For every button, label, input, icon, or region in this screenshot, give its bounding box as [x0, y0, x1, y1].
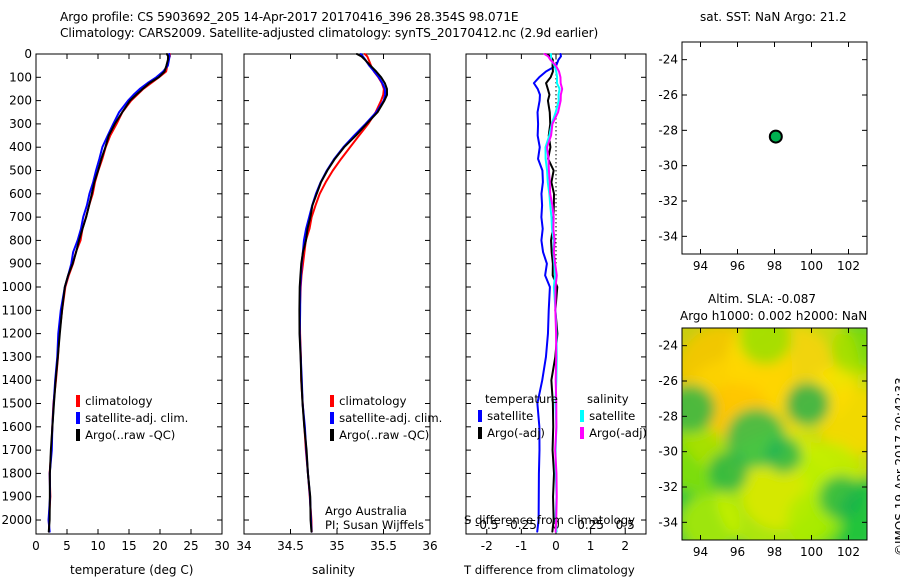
temperature-legend: climatology satellite-adj. clim. Argo(..… [76, 392, 188, 443]
difference-panel: -2-1012-0.5-0.2500.250.5 [452, 42, 660, 580]
svg-text:102: 102 [837, 545, 860, 559]
sst-map-title: sat. SST: NaN Argo: 21.2 [700, 10, 847, 24]
svg-text:96: 96 [730, 259, 745, 273]
svg-text:0: 0 [24, 47, 32, 61]
station-marker [770, 131, 782, 143]
svg-text:-30: -30 [658, 445, 678, 459]
svg-text:96: 96 [730, 545, 745, 559]
svg-text:-2: -2 [481, 539, 493, 553]
copyright-credit: ©IMOS 19-Apr-2017 20:42:33 [893, 377, 900, 556]
difference-legend-salinity: salinity satellite Argo(-adj) [580, 392, 647, 441]
svg-text:35: 35 [329, 539, 344, 553]
legend-label-climatology: climatology [339, 394, 406, 408]
svg-text:400: 400 [9, 140, 32, 154]
legend-swatch-argo [76, 429, 80, 441]
legend-label-argo: Argo(..raw -QC) [85, 428, 175, 442]
svg-text:98: 98 [767, 545, 782, 559]
legend-swatch-satellite-adj [76, 412, 80, 424]
difference-top-xaxis-label: S difference from climatology [464, 513, 635, 527]
svg-text:100: 100 [9, 70, 32, 84]
svg-text:30: 30 [214, 539, 229, 553]
svg-text:2: 2 [621, 539, 629, 553]
svg-text:98: 98 [767, 259, 782, 273]
attribution-line2: PI: Susan Wijffels [325, 518, 424, 532]
plot-title-line2: Climatology: CARS2009. Satellite-adjuste… [60, 26, 598, 40]
legend-swatch-sal-argo-adj [580, 427, 584, 439]
svg-text:-34: -34 [658, 229, 678, 243]
svg-text:35.5: 35.5 [370, 539, 397, 553]
legend-swatch-sal-satellite [580, 410, 584, 422]
legend-label-sal-satellite: satellite [589, 409, 635, 423]
legend-label-satellite-adj: satellite-adj. clim. [339, 411, 442, 425]
legend-swatch-temp-argo-adj [478, 427, 482, 439]
difference-plot: -2-1012-0.5-0.2500.250.5 [452, 42, 660, 580]
svg-text:700: 700 [9, 210, 32, 224]
svg-text:100: 100 [800, 545, 823, 559]
svg-text:1500: 1500 [1, 397, 32, 411]
salinity-xaxis-label: salinity [312, 563, 355, 577]
svg-text:25: 25 [183, 539, 198, 553]
svg-text:20: 20 [152, 539, 167, 553]
svg-text:-24: -24 [658, 53, 678, 67]
sla-map-plot: 949698100102-24-26-28-30-32-34 [650, 324, 900, 580]
sla-map-title-line1: Altim. SLA: -0.087 [708, 292, 816, 306]
svg-text:102: 102 [837, 259, 860, 273]
plot-title-line1: Argo profile: CS 5903692_205 14-Apr-2017… [60, 10, 519, 24]
svg-text:1000: 1000 [1, 280, 32, 294]
svg-text:-32: -32 [658, 480, 678, 494]
svg-text:1900: 1900 [1, 490, 32, 504]
svg-text:-24: -24 [658, 339, 678, 353]
svg-text:800: 800 [9, 233, 32, 247]
svg-text:100: 100 [800, 259, 823, 273]
svg-text:300: 300 [9, 117, 32, 131]
svg-text:-32: -32 [658, 194, 678, 208]
sst-map-plot: 949698100102-24-26-28-30-32-34 [650, 28, 900, 318]
svg-text:1400: 1400 [1, 373, 32, 387]
svg-text:900: 900 [9, 257, 32, 271]
svg-text:1200: 1200 [1, 327, 32, 341]
svg-text:1700: 1700 [1, 443, 32, 457]
svg-text:-1: -1 [515, 539, 527, 553]
svg-text:500: 500 [9, 164, 32, 178]
sst-map-panel: 949698100102-24-26-28-30-32-34 [650, 28, 900, 318]
svg-text:94: 94 [693, 259, 708, 273]
svg-text:94: 94 [693, 545, 708, 559]
salinity-panel: 3434.53535.536 [230, 42, 452, 580]
sla-map-title-line2: Argo h1000: 0.002 h2000: NaN [680, 309, 867, 323]
legend-swatch-temp-satellite [478, 410, 482, 422]
svg-text:0: 0 [552, 539, 560, 553]
svg-text:-26: -26 [658, 374, 678, 388]
legend-swatch-argo [330, 429, 334, 441]
legend-label-temp-argo-adj: Argo(-adj) [487, 426, 545, 440]
svg-text:-28: -28 [658, 409, 678, 423]
svg-text:36: 36 [422, 539, 437, 553]
svg-text:1600: 1600 [1, 420, 32, 434]
svg-text:1: 1 [587, 539, 595, 553]
attribution-line1: Argo Australia [325, 504, 424, 518]
legend-label-climatology: climatology [85, 394, 152, 408]
svg-text:1800: 1800 [1, 466, 32, 480]
temperature-plot: 0510152025300100200300400500600700800900… [0, 42, 230, 580]
sla-map-panel: 949698100102-24-26-28-30-32-34 [650, 324, 900, 580]
svg-text:-30: -30 [658, 159, 678, 173]
svg-text:600: 600 [9, 187, 32, 201]
svg-text:15: 15 [121, 539, 136, 553]
salinity-plot: 3434.53535.536 [230, 42, 452, 580]
legend-label-temp-satellite: satellite [487, 409, 533, 423]
attribution: Argo Australia PI: Susan Wijffels [325, 504, 424, 532]
legend-label-satellite-adj: satellite-adj. clim. [85, 411, 188, 425]
temperature-xaxis-label: temperature (deg C) [70, 563, 193, 577]
difference-legend-temperature: temperature satellite Argo(-adj) [478, 392, 558, 441]
svg-text:34: 34 [236, 539, 251, 553]
legend-heading-temperature: temperature [478, 392, 558, 407]
svg-text:-26: -26 [658, 88, 678, 102]
legend-label-argo: Argo(..raw -QC) [339, 428, 429, 442]
svg-text:200: 200 [9, 94, 32, 108]
svg-text:2000: 2000 [1, 513, 32, 527]
difference-bottom-xaxis-label: T difference from climatology [464, 563, 635, 577]
legend-heading-salinity: salinity [580, 392, 647, 407]
svg-text:-28: -28 [658, 123, 678, 137]
svg-text:-34: -34 [658, 515, 678, 529]
salinity-legend: climatology satellite-adj. clim. Argo(..… [330, 392, 442, 443]
svg-text:0: 0 [32, 539, 40, 553]
legend-swatch-satellite-adj [330, 412, 334, 424]
svg-text:1300: 1300 [1, 350, 32, 364]
legend-swatch-climatology [330, 395, 334, 407]
svg-text:34.5: 34.5 [277, 539, 304, 553]
temperature-panel: 0510152025300100200300400500600700800900… [0, 42, 230, 580]
legend-swatch-climatology [76, 395, 80, 407]
svg-text:5: 5 [63, 539, 71, 553]
svg-text:10: 10 [90, 539, 105, 553]
legend-label-sal-argo-adj: Argo(-adj) [589, 426, 647, 440]
svg-text:1100: 1100 [1, 303, 32, 317]
